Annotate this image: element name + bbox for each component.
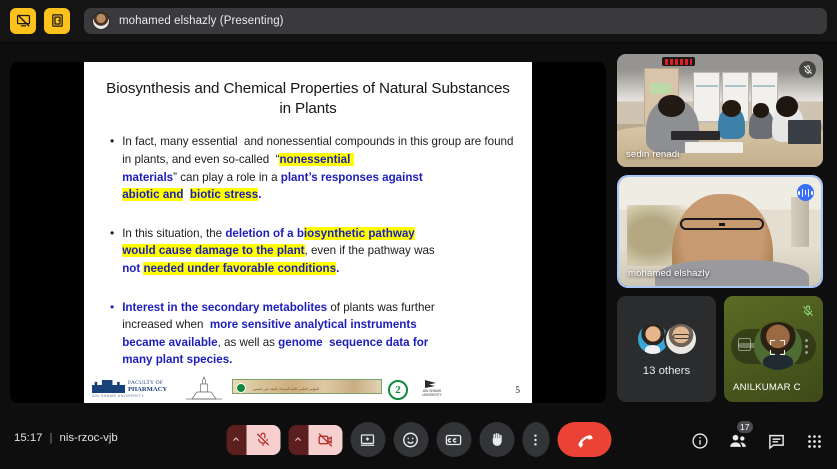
mic-off-icon[interactable]: [246, 425, 280, 455]
others-avatars: [636, 322, 698, 356]
presenter-name: mohamed elshazly (Presenting): [119, 15, 284, 27]
google-meet-window: mohamed elshazly (Presenting) Biosynthes…: [0, 0, 837, 469]
green-circle-logo-icon: 2: [388, 380, 408, 400]
banner-text: المؤتمر العلمى لكلية الصيدلة جامعة عين ش…: [253, 387, 379, 392]
presenter-pill[interactable]: mohamed elshazly (Presenting): [84, 8, 827, 34]
mic-off-icon: [799, 61, 816, 78]
slide-bullet-2: • In this situation, the deletion of a b…: [110, 225, 516, 278]
bird-logo-text: AIN SHAMS UNIVERSITY: [418, 390, 446, 398]
info-icon[interactable]: [689, 430, 711, 452]
tile-name-label: sedin renadi: [626, 149, 679, 160]
slide-title: Biosynthesis and Chemical Properties of …: [106, 79, 510, 119]
faculty-of-pharmacy-logo-icon: FACULTY OF PHARMACY AIN SHAMS UNIVERSITY: [92, 378, 176, 400]
clock-time: 15:17: [14, 432, 43, 444]
chat-icon[interactable]: [765, 430, 787, 452]
slide-bullet-1: • In fact, many essential and nonessenti…: [110, 133, 516, 203]
slide-bullet-2-text: In this situation, the deletion of a bio…: [122, 225, 435, 278]
tile-name-label: ANILKUMAR C: [733, 382, 801, 393]
video-tile-anilkumar-c[interactable]: ANILKUMAR C: [724, 296, 823, 402]
emoji-smile-icon[interactable]: [393, 422, 428, 457]
panel-bottom-row: 13 others: [617, 296, 827, 402]
chevron-up-icon[interactable]: [288, 425, 308, 455]
others-count-label: 13 others: [643, 365, 691, 377]
meeting-info: 15:17 | nis-rzoc-vjb: [14, 432, 118, 444]
tile-others[interactable]: 13 others: [617, 296, 716, 402]
spacer: [100, 212, 516, 225]
slide: Biosynthesis and Chemical Properties of …: [84, 62, 532, 403]
top-bar: mohamed elshazly (Presenting): [0, 0, 837, 41]
faculty-logo-line2: PHARMACY: [128, 386, 167, 393]
exit-door-icon[interactable]: [44, 8, 70, 34]
bottom-bar: 15:17 | nis-rzoc-vjb: [0, 412, 837, 469]
bullet-dot-icon: •: [110, 133, 114, 203]
call-controls: [226, 422, 611, 457]
presentation-stage[interactable]: Biosynthesis and Chemical Properties of …: [10, 62, 606, 403]
avatar: [664, 322, 698, 356]
slide-bullet-3: • Interest in the secondary metabolites …: [110, 299, 516, 369]
chevron-up-icon[interactable]: [226, 425, 246, 455]
end-call-icon[interactable]: [557, 422, 611, 457]
meeting-code: nis-rzoc-vjb: [59, 432, 117, 444]
people-icon[interactable]: 17: [727, 430, 749, 452]
video-tile-mohamed-elshazly[interactable]: mohamed elshazly: [617, 175, 823, 288]
speaking-indicator-icon: [797, 184, 814, 201]
raise-hand-icon[interactable]: [479, 422, 514, 457]
screen-share-off-icon[interactable]: [10, 8, 36, 34]
university-bird-logo-icon: AIN SHAMS UNIVERSITY: [414, 378, 448, 400]
activities-grid-icon[interactable]: [803, 430, 825, 452]
slide-number: 5: [515, 386, 524, 400]
slide-bullet-1-text: In fact, many essential and nonessential…: [122, 133, 516, 203]
tile-name-label: mohamed elshazly: [628, 268, 710, 279]
camera-control[interactable]: [288, 425, 342, 455]
tower-monument-logo-icon: [182, 376, 226, 400]
right-icon-group: 17: [689, 430, 825, 452]
separator: |: [50, 432, 53, 444]
focus-frame-icon: [770, 340, 785, 355]
spacer: [100, 286, 516, 299]
conference-banner-icon: المؤتمر العلمى لكلية الصيدلة جامعة عين ش…: [232, 379, 382, 394]
more-vertical-icon[interactable]: [522, 422, 549, 457]
camera-off-icon[interactable]: [308, 425, 342, 455]
people-count-badge: 17: [736, 420, 754, 434]
closed-captions-icon[interactable]: [436, 422, 471, 457]
bullet-dot-icon: •: [110, 299, 114, 369]
microphone-control[interactable]: [226, 425, 280, 455]
present-screen-icon[interactable]: [350, 422, 385, 457]
video-tile-sedin-renadi[interactable]: sedin renadi: [617, 54, 823, 167]
slide-footer: FACULTY OF PHARMACY AIN SHAMS UNIVERSITY…: [84, 373, 532, 403]
slide-bullet-3-text: Interest in the secondary metabolites of…: [122, 299, 435, 369]
avatar: [92, 12, 110, 30]
bullet-dot-icon: •: [110, 225, 114, 278]
mic-off-icon: [799, 302, 816, 319]
participant-panel: sedin renadi mohamed elshazly 13 ot: [617, 54, 827, 412]
faculty-logo-line3: AIN SHAMS UNIVERSITY: [92, 394, 144, 398]
